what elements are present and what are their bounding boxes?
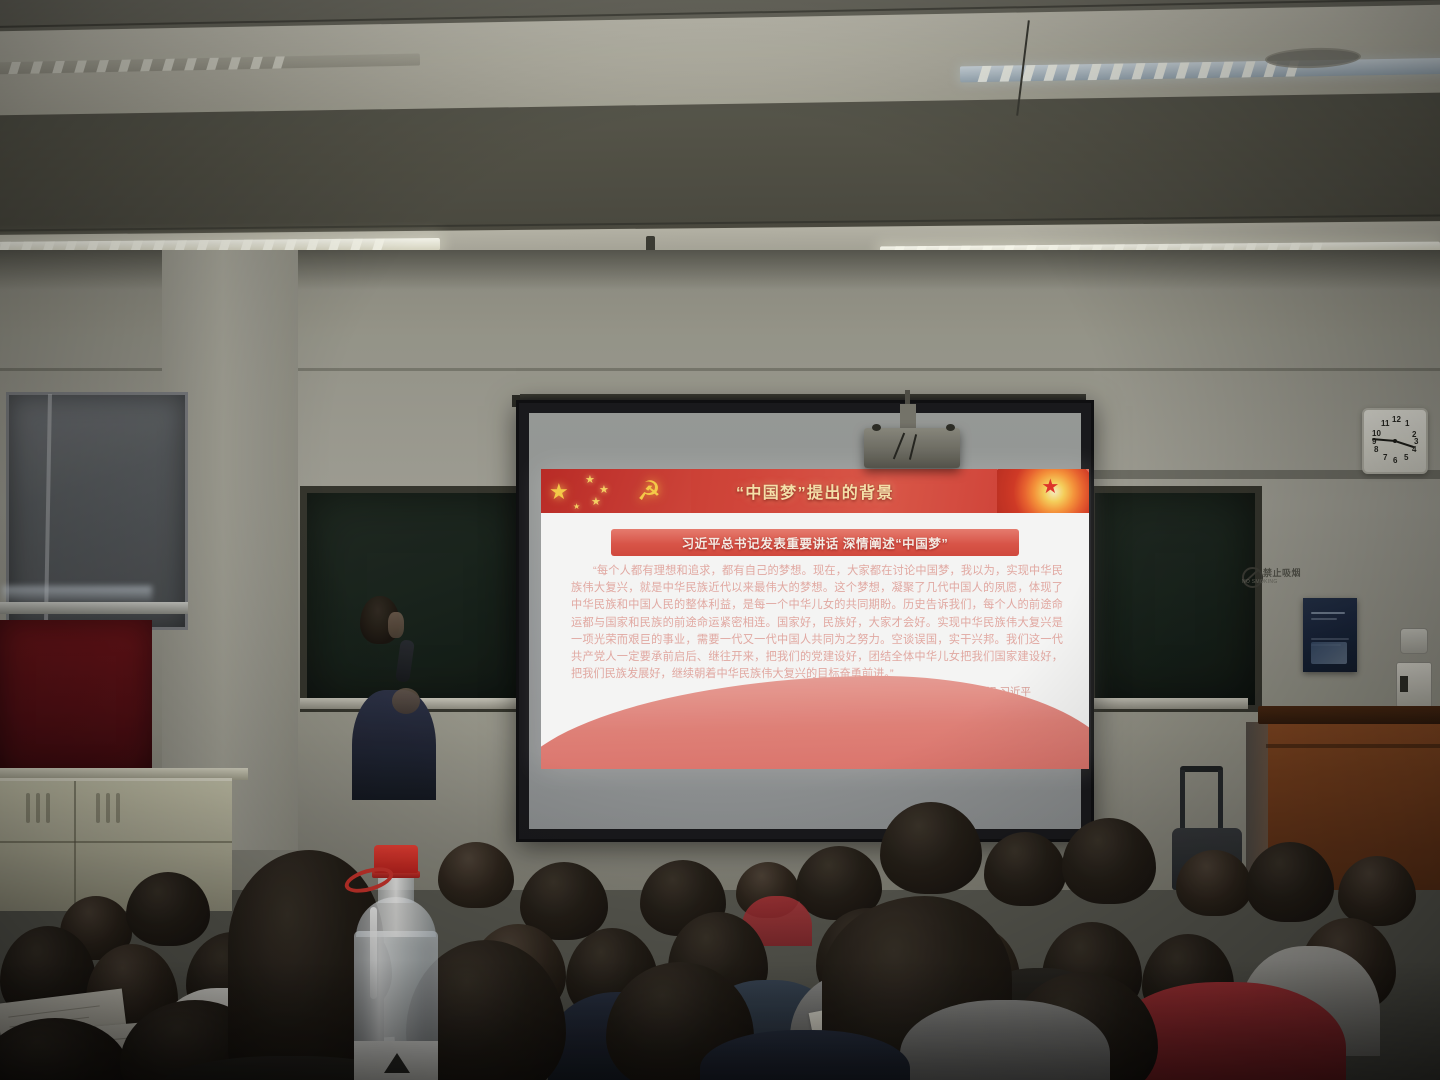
bottle-shoulder [356, 897, 436, 937]
bottle-highlight [370, 907, 377, 999]
slide-paragraph: “每个人都有理想和追求，都有自己的梦想。现在，大家都在讨论中国梦，我以为，实现中… [571, 563, 1063, 683]
poster-image [1311, 642, 1347, 664]
no-smoking-sign: 禁止吸烟 NO SMOKING [1242, 566, 1304, 586]
clock-numeral: 12 [1392, 416, 1401, 424]
projector-knob [946, 424, 955, 431]
wall-clock: 12 1 2 3 4 5 6 7 8 9 10 11 [1362, 408, 1428, 474]
student-head [1246, 842, 1334, 922]
student-head [984, 832, 1066, 906]
no-smoking-sublabel: NO SMOKING [1242, 579, 1278, 585]
chalkboard-right [1088, 486, 1262, 712]
wall-dispenser [1400, 628, 1428, 654]
chalkboard-left [300, 486, 530, 712]
projector-knob [872, 424, 881, 431]
student-head [438, 842, 514, 908]
lecturer-face [388, 612, 404, 638]
no-smoking-label: 禁止吸烟 [1263, 566, 1301, 579]
student-head [1176, 850, 1252, 916]
lecture-hall-photo: ★ ★ ★ ★ ★ ☭ ★ “中国梦”提出的背景 习近平总书记发表重要讲话 深情… [0, 0, 1440, 1080]
clock-numeral: 11 [1381, 420, 1389, 428]
wall-poster [1303, 598, 1357, 672]
student-audience [0, 700, 1440, 1080]
student-head [880, 802, 982, 894]
clock-numeral: 10 [1372, 430, 1381, 438]
bottle-label-mark [384, 1053, 410, 1073]
clock-numeral: 6 [1393, 457, 1397, 465]
clock-numeral: 8 [1374, 446, 1378, 454]
student-head [126, 872, 210, 946]
student-head [1338, 856, 1416, 926]
water-bottle-red-cap [340, 845, 444, 1080]
projector-mount [900, 404, 916, 430]
ceiling [0, 0, 1440, 262]
clock-numeral: 1 [1405, 420, 1409, 428]
clock-numeral: 5 [1404, 454, 1408, 462]
clock-numeral: 7 [1383, 454, 1387, 462]
slide-title: “中国梦”提出的背景 [541, 469, 1089, 513]
clock-hub [1393, 439, 1397, 443]
student-head [1062, 818, 1156, 904]
ceiling-recess [0, 92, 1440, 243]
window-sill [0, 602, 188, 614]
dispenser-nozzle [1400, 676, 1408, 692]
slide-subtitle-banner: 习近平总书记发表重要讲话 深情阐述“中国梦” [611, 529, 1019, 556]
slide-header: ★ ★ ★ ★ ★ ☭ ★ “中国梦”提出的背景 [541, 469, 1089, 513]
